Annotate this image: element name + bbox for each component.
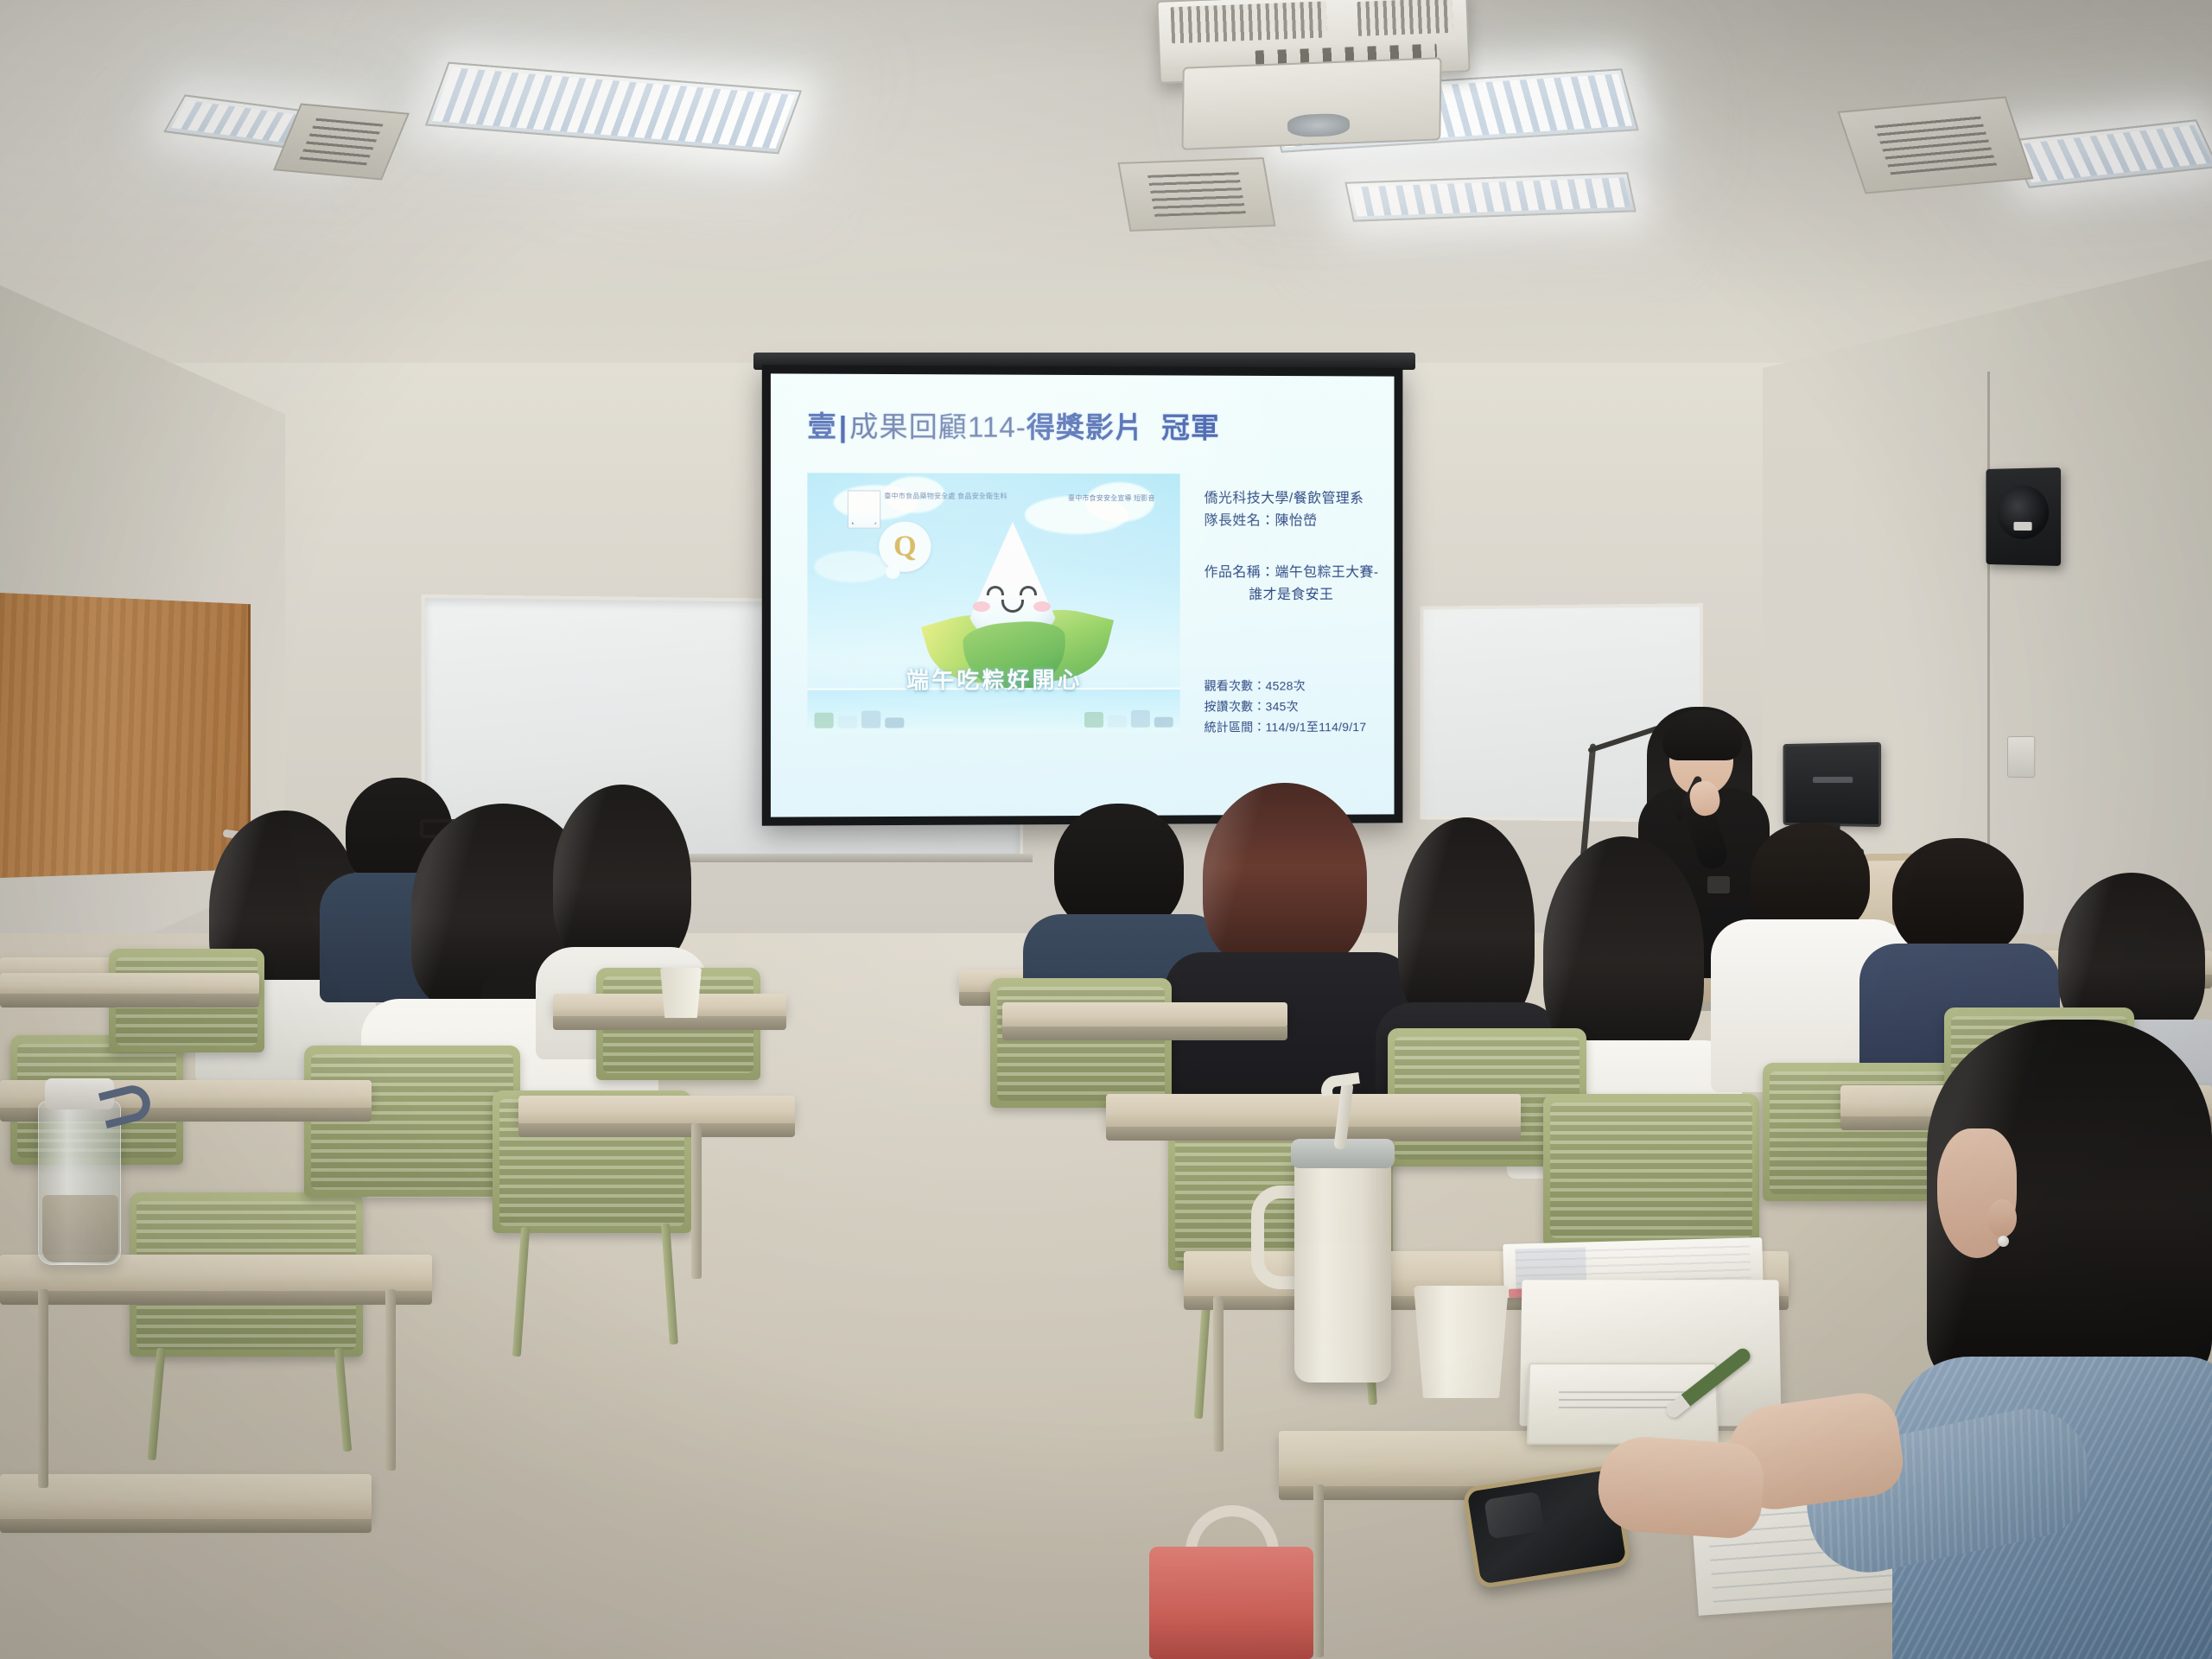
video-statistics: 觀看次數：4528次 按讚次數：345次 統計區間：114/9/1至114/9/… bbox=[1205, 675, 1395, 737]
slide-body: 臺中市食品藥物安全處 食品安全衛生科 臺中市食安安全宣導 短影音 Q bbox=[771, 457, 1395, 817]
stat-period: 統計區間：114/9/1至114/9/17 bbox=[1205, 716, 1395, 738]
desk-leg bbox=[691, 1123, 702, 1279]
classroom-scene: 壹|成果回顧114-得獎影片 冠軍 臺中市食品藥物安全處 食品安全衛生科 臺中市… bbox=[0, 0, 2212, 1659]
view-count: 觀看次數：4528次 bbox=[1205, 675, 1395, 696]
ear bbox=[1987, 1199, 2017, 1237]
hair bbox=[553, 785, 691, 971]
desk bbox=[1002, 1002, 1287, 1028]
award-video-poster: 臺中市食品藥物安全處 食品安全衛生科 臺中市食安安全宣導 短影音 Q bbox=[807, 473, 1179, 734]
tote-bag bbox=[1149, 1547, 1313, 1659]
earring-icon bbox=[1998, 1236, 2009, 1247]
desk-leg bbox=[1213, 1296, 1224, 1452]
slide-title: 壹|成果回顧114-得獎影片 冠軍 bbox=[807, 404, 1219, 447]
projection-screen: 壹|成果回顧114-得獎影片 冠軍 臺中市食品藥物安全處 食品安全衛生科 臺中市… bbox=[762, 365, 1403, 825]
mascot-cheek bbox=[1033, 601, 1051, 612]
slide-title-prefix: 壹 bbox=[807, 410, 836, 442]
ac-vent-icon bbox=[1117, 157, 1275, 232]
projector-vent bbox=[1171, 1, 1327, 43]
hair bbox=[1892, 838, 2024, 959]
presenter-hair-front bbox=[1662, 710, 1742, 760]
bottle-contents bbox=[42, 1195, 118, 1262]
school-department: 僑光科技大學/餐飲管理系 bbox=[1205, 487, 1393, 510]
cloud-shape bbox=[814, 551, 889, 582]
desk-leg bbox=[38, 1289, 48, 1488]
desktop-monitor bbox=[1783, 742, 1881, 827]
work-title-line1: 作品名稱：端午包粽王大賽- bbox=[1205, 562, 1393, 584]
work-title-line2: 誰才是食安王 bbox=[1205, 584, 1393, 607]
ceiling bbox=[0, 0, 2212, 372]
paper-cup bbox=[660, 968, 702, 1018]
entry-info: 僑光科技大學/餐飲管理系 隊長姓名：陳怡嵤 作品名稱：端午包粽王大賽- 誰才是食… bbox=[1205, 487, 1393, 606]
bubble-letter: Q bbox=[893, 531, 917, 563]
like-count: 按讚次數：345次 bbox=[1205, 696, 1395, 716]
wall-control-panel[interactable] bbox=[2007, 736, 2035, 778]
mascot-cheek bbox=[973, 601, 990, 612]
organizer-logo-text: 臺中市食品藥物安全處 食品安全衛生科 bbox=[884, 493, 1007, 502]
desk bbox=[518, 1096, 795, 1125]
tumbler bbox=[1294, 1149, 1391, 1382]
wall-speaker-icon bbox=[1986, 467, 2061, 566]
slide-title-section: 成果回顧114- bbox=[849, 410, 1027, 443]
team-leader: 隊長姓名：陳怡嵤 bbox=[1205, 510, 1393, 532]
desk-leg bbox=[1313, 1484, 1324, 1657]
hair bbox=[1203, 783, 1367, 971]
desk bbox=[1106, 1094, 1521, 1128]
desk bbox=[0, 1474, 372, 1521]
desk bbox=[0, 973, 259, 995]
slide-title-separator: | bbox=[837, 410, 849, 442]
poster-footer-logos bbox=[814, 702, 904, 728]
chair[interactable] bbox=[1543, 1094, 1759, 1245]
speech-bubble-icon: Q bbox=[879, 522, 931, 572]
poster-caption: 端午吃粽好開心 bbox=[807, 663, 1179, 696]
poster-footer-logos bbox=[1084, 702, 1173, 728]
desk-leg bbox=[385, 1289, 396, 1471]
slide-title-emphasis: 得獎影片 bbox=[1027, 411, 1144, 443]
chair[interactable] bbox=[990, 978, 1172, 1108]
paper-cup bbox=[1414, 1286, 1509, 1398]
ac-vent-icon bbox=[1837, 96, 2033, 194]
organizer-logo-icon bbox=[848, 490, 880, 528]
slide-title-award: 冠軍 bbox=[1161, 411, 1220, 443]
hair bbox=[1398, 817, 1535, 1033]
hand bbox=[1595, 1434, 1765, 1541]
presentation-slide: 壹|成果回顧114-得獎影片 冠軍 臺中市食品藥物安全處 食品安全衛生科 臺中市… bbox=[771, 373, 1395, 817]
projector-vent bbox=[1357, 0, 1453, 36]
organizer-logo-text: 臺中市食安安全宣導 短影音 bbox=[1068, 494, 1155, 504]
foreground-person bbox=[1858, 1020, 2212, 1659]
